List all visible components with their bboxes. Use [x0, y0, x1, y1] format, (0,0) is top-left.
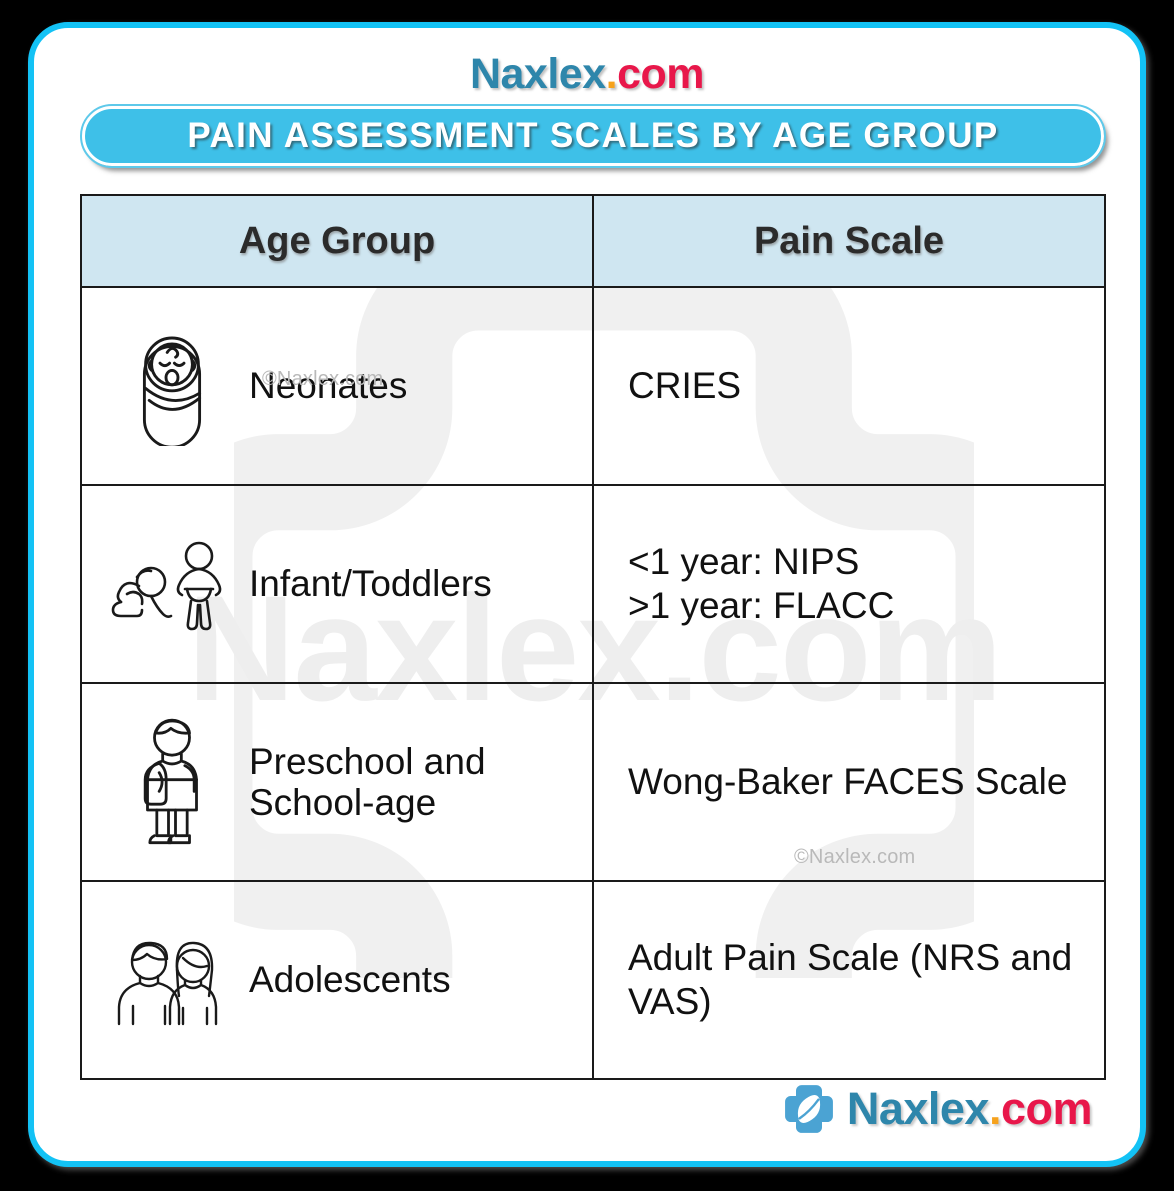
page-title-banner: PAIN ASSESSMENT SCALES BY AGE GROUP [82, 106, 1104, 166]
crawling-baby-and-toddler-icon [104, 530, 239, 638]
brand-name-red: com [617, 50, 704, 98]
copyright-watermark: ©Naxlex.com [794, 846, 915, 869]
table-header-row: Age Group Pain Scale [81, 195, 1105, 287]
schoolboy-with-backpack-icon [104, 712, 239, 852]
copyright-watermark: ©Naxlex.com [262, 368, 383, 391]
brand-name-blue: Naxlex [470, 50, 606, 98]
pain-scales-table: Age Group Pain Scale [80, 194, 1106, 1080]
pain-scale-cell: Adult Pain Scale (NRS and VAS) [593, 881, 1105, 1079]
age-group-cell: Adolescents [81, 881, 593, 1079]
age-group-label: Infant/Toddlers [249, 563, 492, 604]
column-header-pain-scale: Pain Scale [593, 195, 1105, 287]
table-row: Neonates CRIES [81, 287, 1105, 485]
brand-wordmark-top: Naxlex.com [34, 50, 1140, 99]
table-row: Preschool and School-age Wong-Baker FACE… [81, 683, 1105, 881]
age-group-label: Adolescents [249, 959, 451, 1000]
age-group-label: Preschool and School-age [249, 741, 582, 824]
brand-name-red: com [1001, 1083, 1092, 1134]
brand-wordmark-footer: Naxlex.com [847, 1083, 1092, 1135]
brand-dot: . [989, 1083, 1001, 1134]
pain-scale-cell: CRIES [593, 287, 1105, 485]
pain-scale-cell: <1 year: NIPS >1 year: FLACC [593, 485, 1105, 683]
table-row: Infant/Toddlers <1 year: NIPS >1 year: F… [81, 485, 1105, 683]
swaddled-newborn-icon [104, 326, 239, 446]
two-adolescents-icon [104, 928, 239, 1032]
page-title: PAIN ASSESSMENT SCALES BY AGE GROUP [187, 116, 998, 156]
age-group-cell: Preschool and School-age [81, 683, 593, 881]
brand-name-blue: Naxlex [847, 1083, 989, 1134]
brand-dot: . [606, 50, 617, 98]
table-row: Adolescents Adult Pain Scale (NRS and VA… [81, 881, 1105, 1079]
naxlex-cross-leaf-logo-icon [783, 1083, 835, 1135]
brand-logo-footer: Naxlex.com [783, 1083, 1092, 1135]
column-header-age-group: Age Group [81, 195, 593, 287]
age-group-cell: Infant/Toddlers [81, 485, 593, 683]
poster-card: Naxlex.com Naxlex.com PAIN ASSESSMENT SC… [28, 22, 1146, 1167]
